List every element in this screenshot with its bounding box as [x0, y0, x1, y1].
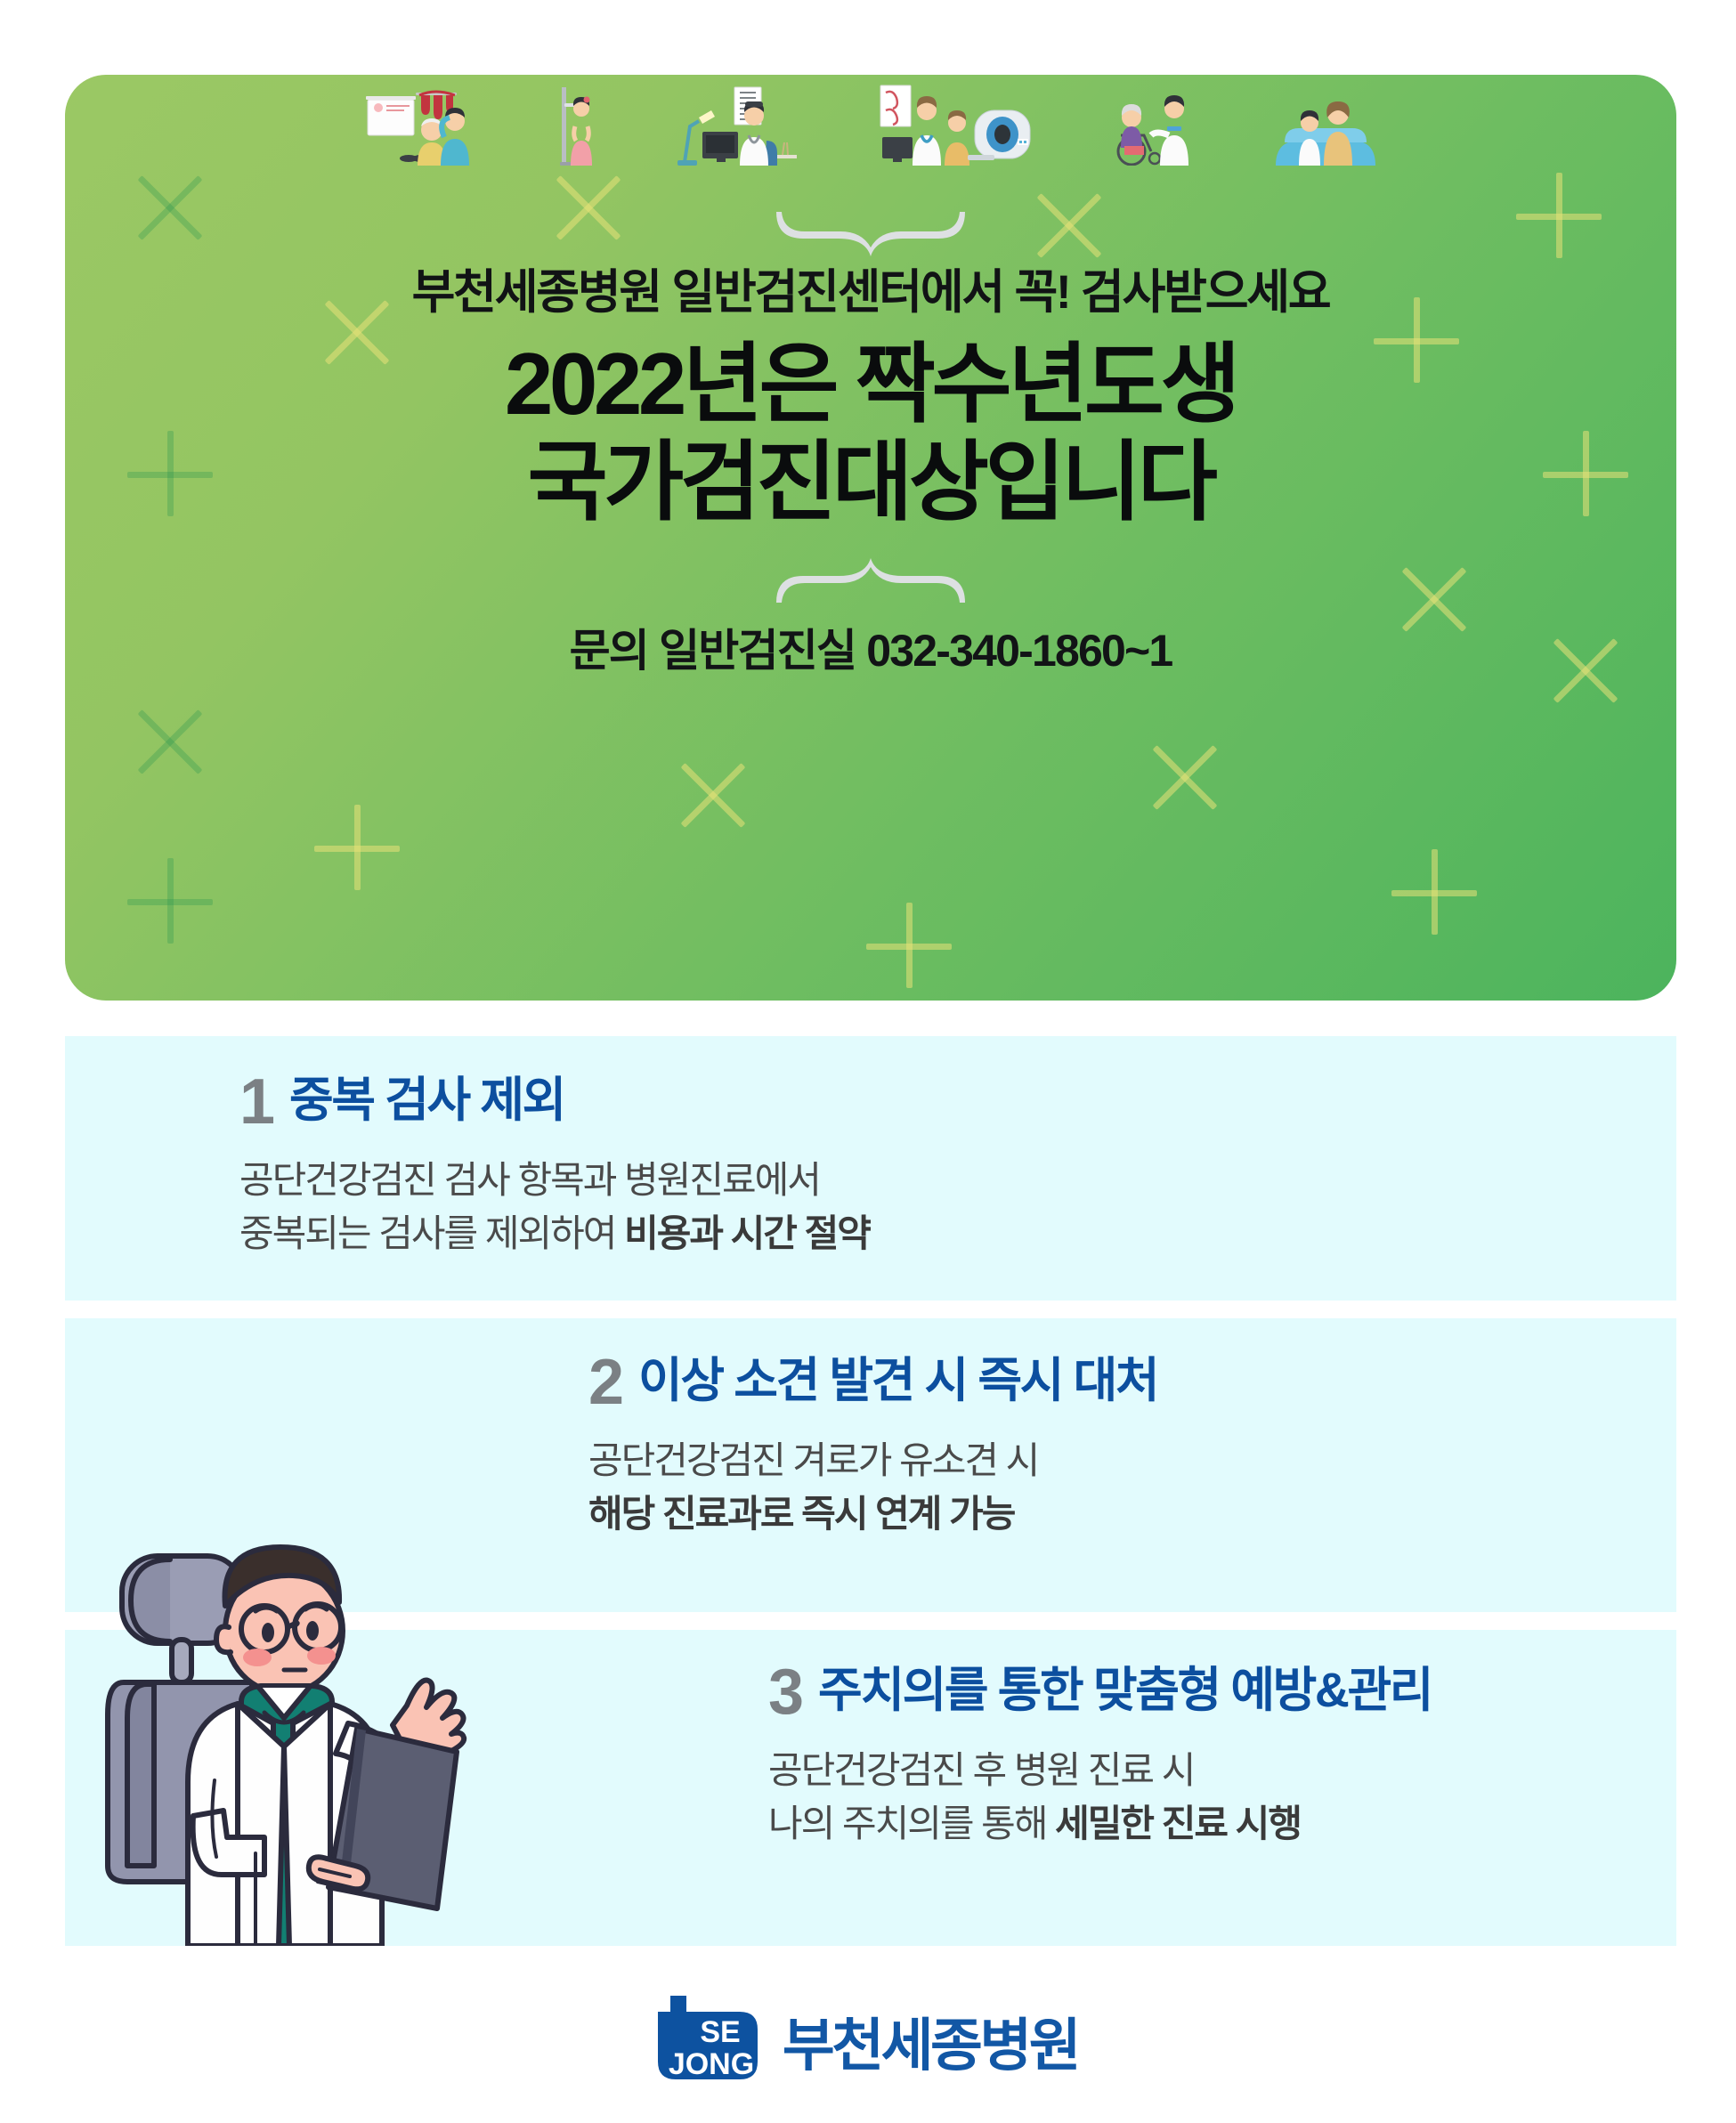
hero-kicker: 부천세종병원 일반검진센터에서 꼭! 검사받으세요 — [65, 267, 1676, 318]
hero-banner: 부천세종병원 일반검진센터에서 꼭! 검사받으세요 2022년은 짝수년도생 국… — [65, 75, 1676, 1001]
height-measurement-illustration — [548, 80, 603, 166]
mri-scan-illustration — [875, 80, 1035, 166]
curly-brace-ornament-bottom — [771, 555, 970, 608]
logo-mark-line2: JONG — [669, 2047, 754, 2081]
feature-3-number: 3 — [768, 1665, 802, 1721]
feature-2-body-line2: 해당 진료과로 즉시 연계 가능 — [588, 1487, 1157, 1541]
feature-1-number: 1 — [239, 1075, 273, 1130]
logo-mark-line1: SE — [700, 2015, 740, 2049]
feature-1-body-line1: 공단건강검진 검사 항목과 병원진료에서 — [239, 1154, 870, 1207]
curly-brace-ornament-top — [771, 208, 970, 262]
feature-panel-2: 2 이상 소견 발견 시 즉시 대처 공단건강검진 겨로가 유소견 시 해당 진… — [65, 1318, 1676, 1612]
footer-brand: SE JONG 부천세종병원 — [0, 1983, 1736, 2108]
feature-panel-1: 1 중복 검사 제외 공단건강검진 검사 항목과 병원진료에서 중복되는 검사를… — [65, 1036, 1676, 1301]
feature-3-body-line1: 공단건강검진 후 병원 진료 시 — [768, 1744, 1432, 1797]
feature-1-body-line2-plain: 중복되는 검사를 제외하여 — [239, 1212, 624, 1254]
feature-2-number: 2 — [588, 1356, 622, 1411]
feature-1-body: 공단건강검진 검사 항목과 병원진료에서 중복되는 검사를 제외하여 비용과 시… — [239, 1154, 870, 1260]
hero-headline-line1: 2022년은 짝수년도생 — [65, 336, 1676, 434]
feature-1-heading: 1 중복 검사 제외 — [239, 1075, 870, 1130]
feature-2-body-line2-bold: 해당 진료과로 즉시 연계 가능 — [588, 1493, 1014, 1535]
hero-headline-line2: 국가검진대상입니다 — [65, 434, 1676, 531]
feature-1-body-line2: 중복되는 검사를 제외하여 비용과 시간 절약 — [239, 1207, 870, 1260]
feature-1-body-line2-bold: 비용과 시간 절약 — [624, 1212, 870, 1254]
feature-3-body: 공단건강검진 후 병원 진료 시 나의 주치의를 통해 세밀한 진료 시행 — [768, 1744, 1432, 1850]
feature-2-body-line1: 공단건강검진 겨로가 유소견 시 — [588, 1434, 1157, 1487]
feature-2-body: 공단건강검진 겨로가 유소견 시 해당 진료과로 즉시 연계 가능 — [588, 1434, 1157, 1540]
feature-2-heading: 2 이상 소견 발견 시 즉시 대처 — [588, 1356, 1157, 1411]
feature-3-body-line2-plain: 나의 주치의를 통해 — [768, 1803, 1055, 1844]
feature-3-body-line2-bold: 세밀한 진료 시행 — [1055, 1803, 1301, 1844]
feature-panel-3: 3 주치의를 통한 맞춤형 예방&관리 공단건강검진 후 병원 진료 시 나의 … — [65, 1630, 1676, 1946]
blood-test-illustration — [362, 80, 478, 166]
feature-1: 1 중복 검사 제외 공단건강검진 검사 항목과 병원진료에서 중복되는 검사를… — [239, 1075, 870, 1260]
feature-2-title: 이상 소견 발견 시 즉시 대처 — [638, 1356, 1157, 1406]
hero-text-block: 부천세종병원 일반검진센터에서 꼭! 검사받으세요 2022년은 짝수년도생 국… — [65, 208, 1676, 679]
sejong-cross-logo-icon: SE JONG — [658, 1996, 758, 2095]
feature-3: 3 주치의를 통한 맞춤형 예방&관리 공단건강검진 후 병원 진료 시 나의 … — [768, 1665, 1432, 1850]
feature-3-title: 주치의를 통한 맞춤형 예방&관리 — [818, 1665, 1432, 1716]
wheelchair-assist-illustration — [1105, 80, 1203, 166]
feature-1-title: 중복 검사 제외 — [289, 1075, 564, 1126]
feature-3-body-line2: 나의 주치의를 통해 세밀한 진료 시행 — [768, 1797, 1432, 1851]
family-consultation-illustration — [1272, 80, 1379, 166]
feature-2: 2 이상 소견 발견 시 즉시 대처 공단건강검진 겨로가 유소견 시 해당 진… — [588, 1356, 1157, 1540]
hospital-name: 부천세종병원 — [783, 2017, 1078, 2074]
doctor-eye-exam-illustration — [672, 80, 806, 166]
contact-phone: 문의 일반검진실 032-340-1860~1 — [65, 615, 1676, 679]
medical-illustration-strip — [65, 75, 1676, 166]
feature-3-heading: 3 주치의를 통한 맞춤형 예방&관리 — [768, 1665, 1432, 1721]
